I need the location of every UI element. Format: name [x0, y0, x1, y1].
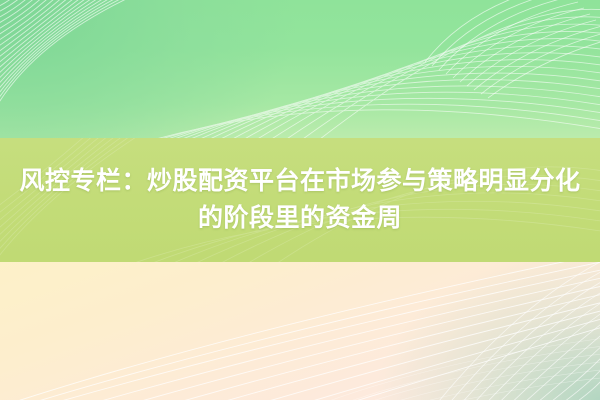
headline-block: 风控专栏：炒股配资平台在市场参与策略明显分化 的阶段里的资金周 [0, 138, 600, 262]
background-bottom-right-accent [0, 258, 600, 400]
headline-line-1: 风控专栏：炒股配资平台在市场参与策略明显分化 [19, 165, 580, 198]
headline-line-2: 的阶段里的资金周 [198, 202, 402, 235]
article-banner: 风控专栏：炒股配资平台在市场参与策略明显分化 的阶段里的资金周 [0, 0, 600, 400]
